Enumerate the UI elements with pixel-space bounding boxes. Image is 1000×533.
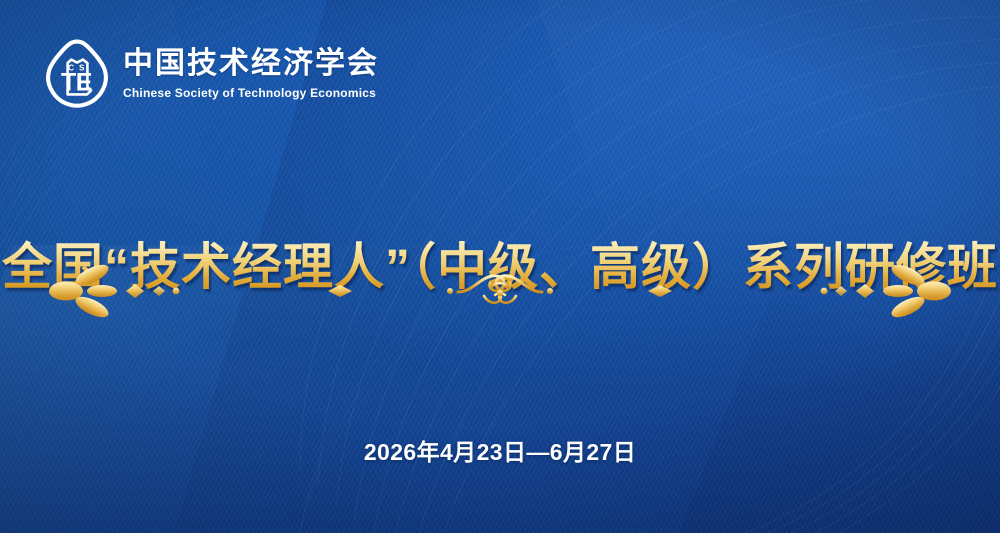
organization-name-block: 中国技术经济学会 Chinese Society of Technology E… — [123, 48, 379, 100]
cste-triangle-logo-icon: C S TE — [44, 38, 110, 110]
organization-name-en: Chinese Society of Technology Economics — [123, 86, 379, 100]
event-date: 2026年4月23日—6月27日 — [0, 433, 1000, 467]
event-banner: C S TE 中国技术经济学会 Chinese Society of Techn… — [0, 0, 1000, 533]
organization-logo: C S TE 中国技术经济学会 Chinese Society of Techn… — [44, 38, 379, 110]
ornamental-divider — [40, 262, 960, 320]
organization-name-cn: 中国技术经济学会 — [123, 48, 379, 80]
svg-text:TE: TE — [61, 68, 92, 96]
